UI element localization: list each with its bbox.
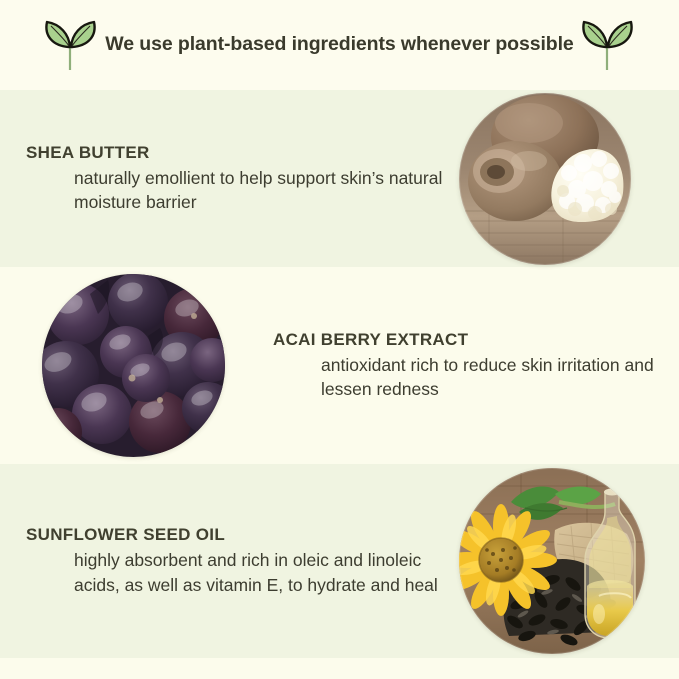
ingredient-row-acai-berry-extract: ACAI BERRY EXTRACT antioxidant rich to r… <box>0 267 679 464</box>
ingredient-text: ACAI BERRY EXTRACT antioxidant rich to r… <box>251 330 679 401</box>
acai-berry-photo <box>42 274 225 457</box>
shea-butter-photo <box>459 93 631 265</box>
ingredient-text: SUNFLOWER SEED OIL highly absorbent and … <box>0 525 453 596</box>
ingredient-description: naturally emollient to help support skin… <box>74 166 451 214</box>
ingredient-name: SUNFLOWER SEED OIL <box>26 525 453 545</box>
ingredient-row-shea-butter: SHEA BUTTER naturally emollient to help … <box>0 90 679 267</box>
footer-band <box>0 658 679 679</box>
ingredient-name: ACAI BERRY EXTRACT <box>273 330 657 350</box>
ingredient-description: highly absorbent and rich in oleic and l… <box>74 548 453 596</box>
ingredient-text: SHEA BUTTER naturally emollient to help … <box>0 143 451 214</box>
header: We use plant-based ingredients whenever … <box>0 0 679 90</box>
ingredient-row-sunflower-seed-oil: SUNFLOWER SEED OIL highly absorbent and … <box>0 464 679 658</box>
ingredient-infographic: We use plant-based ingredients whenever … <box>0 0 679 679</box>
sprout-leaf-icon <box>39 16 103 74</box>
sunflower-seed-oil-photo <box>459 468 645 654</box>
ingredient-description: antioxidant rich to reduce skin irritati… <box>321 353 657 401</box>
sprout-leaf-icon <box>576 16 640 74</box>
ingredient-name: SHEA BUTTER <box>26 143 451 163</box>
page-title: We use plant-based ingredients whenever … <box>105 33 573 58</box>
